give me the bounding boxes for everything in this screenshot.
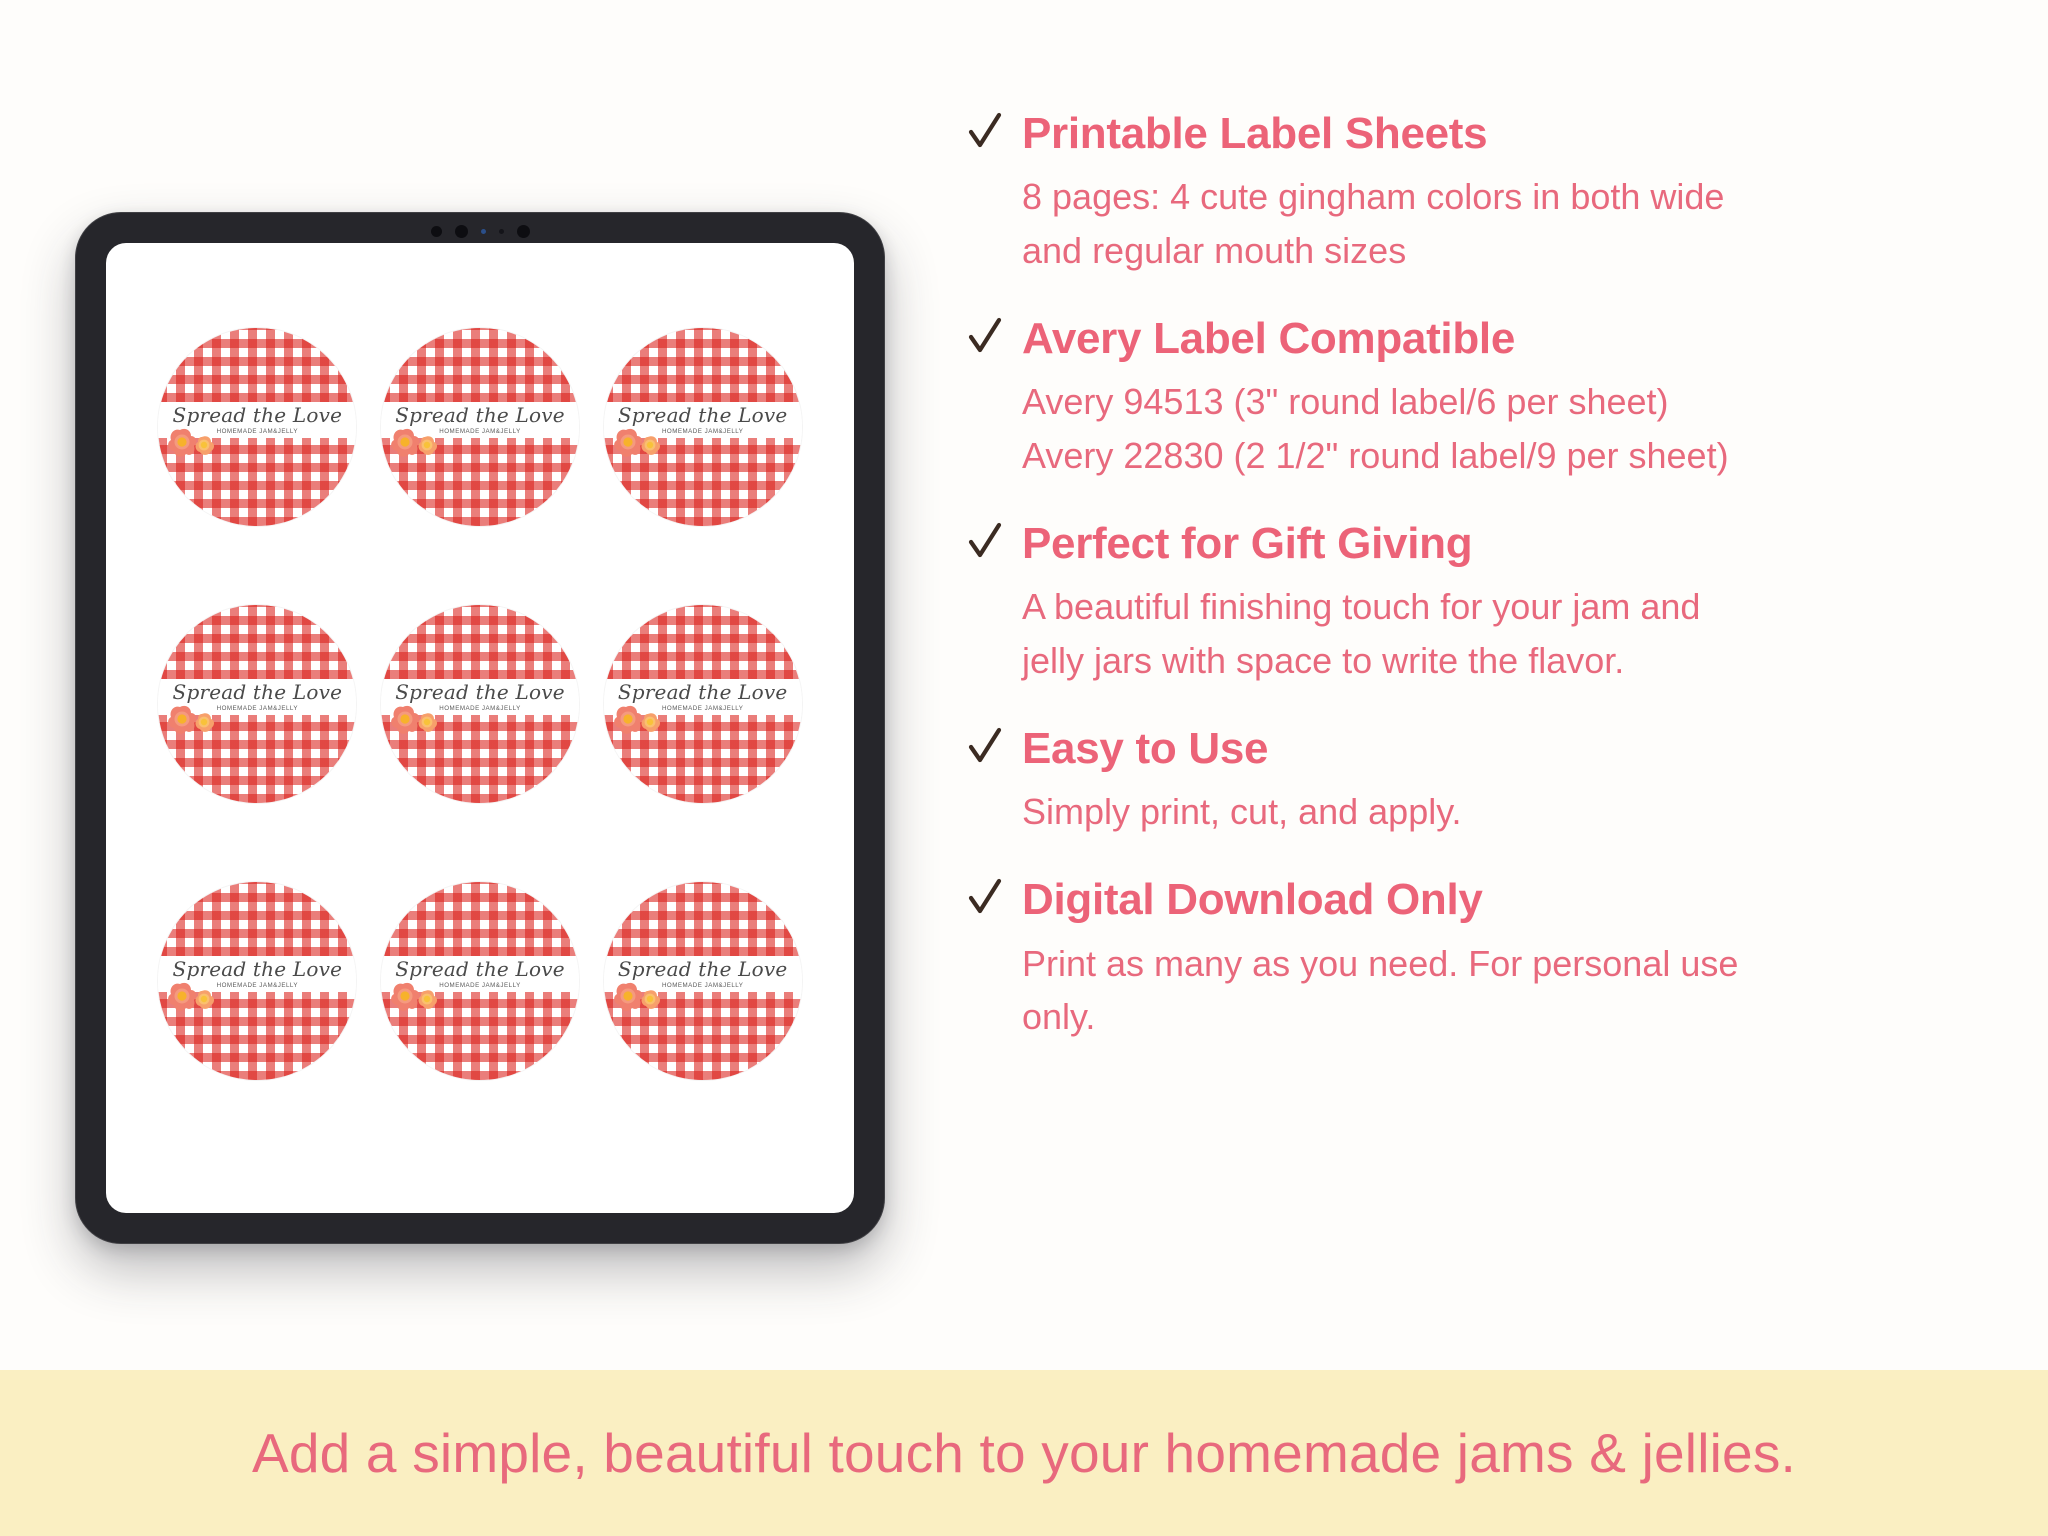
camera-lens-secondary-icon (517, 225, 530, 238)
label-subtitle-text: HOMEMADE JAM&JELLY (439, 982, 520, 989)
camera-strip (395, 225, 565, 237)
label-preview: Spread the Love HOMEMADE JAM&JELLY (381, 605, 579, 803)
check-icon (968, 317, 1002, 357)
label-script-text: Spread the Love (173, 682, 343, 702)
label-text-band: Spread the Love HOMEMADE JAM&JELLY (381, 956, 579, 992)
check-icon (968, 727, 1002, 767)
label-text-band: Spread the Love HOMEMADE JAM&JELLY (381, 679, 579, 715)
label-text-band: Spread the Love HOMEMADE JAM&JELLY (158, 402, 356, 438)
feature-title: Avery Label Compatible (1022, 315, 1515, 363)
feature-description-line: A beautiful finishing touch for your jam… (1022, 580, 1948, 633)
label-script-text: Spread the Love (618, 405, 788, 425)
label-subtitle-text: HOMEMADE JAM&JELLY (662, 428, 743, 435)
feature-title: Perfect for Gift Giving (1022, 520, 1472, 568)
feature-description: Avery 94513 (3" round label/6 per sheet)… (1022, 375, 1948, 482)
feature-description: Print as many as you need. For personal … (1022, 937, 1948, 1044)
label-text-band: Spread the Love HOMEMADE JAM&JELLY (604, 956, 802, 992)
feature-item: Easy to Use Simply print, cut, and apply… (968, 723, 1948, 839)
gingham-pattern-bottom (604, 438, 802, 526)
gingham-pattern-bottom (381, 438, 579, 526)
gingham-pattern-top (381, 882, 579, 956)
label-script-text: Spread the Love (395, 405, 565, 425)
check-icon (968, 112, 1002, 152)
gingham-pattern-top (381, 605, 579, 679)
label-preview: Spread the Love HOMEMADE JAM&JELLY (604, 882, 802, 1080)
feature-heading-row: Easy to Use (968, 723, 1948, 773)
feature-description: A beautiful finishing touch for your jam… (1022, 580, 1948, 687)
label-script-text: Spread the Love (395, 959, 565, 979)
tablet-screen: Spread the Love HOMEMADE JAM&JELLY Sprea… (106, 243, 854, 1213)
main-stage: Spread the Love HOMEMADE JAM&JELLY Sprea… (0, 0, 2048, 1370)
banner-tagline: Add a simple, beautiful touch to your ho… (252, 1421, 1796, 1485)
label-script-text: Spread the Love (618, 959, 788, 979)
feature-description-line: Avery 94513 (3" round label/6 per sheet) (1022, 375, 1948, 428)
label-preview: Spread the Love HOMEMADE JAM&JELLY (158, 882, 356, 1080)
label-text-band: Spread the Love HOMEMADE JAM&JELLY (604, 402, 802, 438)
feature-heading-row: Digital Download Only (968, 874, 1948, 924)
label-text-band: Spread the Love HOMEMADE JAM&JELLY (158, 956, 356, 992)
feature-heading-row: Perfect for Gift Giving (968, 518, 1948, 568)
gingham-pattern-top (604, 882, 802, 956)
label-preview: Spread the Love HOMEMADE JAM&JELLY (158, 605, 356, 803)
feature-description: Simply print, cut, and apply. (1022, 785, 1948, 838)
gingham-pattern-bottom (381, 992, 579, 1080)
feature-description-line: and regular mouth sizes (1022, 224, 1948, 277)
label-preview: Spread the Love HOMEMADE JAM&JELLY (604, 328, 802, 526)
feature-description-line: only. (1022, 990, 1948, 1043)
tablet-mockup: Spread the Love HOMEMADE JAM&JELLY Sprea… (75, 212, 885, 1244)
label-script-text: Spread the Love (618, 682, 788, 702)
gingham-pattern-top (158, 605, 356, 679)
label-subtitle-text: HOMEMADE JAM&JELLY (662, 982, 743, 989)
label-script-text: Spread the Love (173, 405, 343, 425)
label-preview: Spread the Love HOMEMADE JAM&JELLY (158, 328, 356, 526)
label-text-band: Spread the Love HOMEMADE JAM&JELLY (381, 402, 579, 438)
microphone-dot-icon (499, 229, 504, 234)
gingham-pattern-top (158, 882, 356, 956)
feature-description-line: Print as many as you need. For personal … (1022, 937, 1948, 990)
feature-item: Avery Label Compatible Avery 94513 (3" r… (968, 313, 1948, 482)
feature-item: Digital Download Only Print as many as y… (968, 874, 1948, 1043)
feature-description-line: jelly jars with space to write the flavo… (1022, 634, 1948, 687)
check-icon (968, 878, 1002, 918)
label-preview: Spread the Love HOMEMADE JAM&JELLY (604, 605, 802, 803)
feature-item: Perfect for Gift Giving A beautiful fini… (968, 518, 1948, 687)
label-text-band: Spread the Love HOMEMADE JAM&JELLY (158, 679, 356, 715)
gingham-pattern-bottom (158, 438, 356, 526)
label-preview: Spread the Love HOMEMADE JAM&JELLY (381, 328, 579, 526)
feature-description-line: 8 pages: 4 cute gingham colors in both w… (1022, 170, 1948, 223)
label-text-band: Spread the Love HOMEMADE JAM&JELLY (604, 679, 802, 715)
gingham-pattern-bottom (604, 992, 802, 1080)
feature-description: 8 pages: 4 cute gingham colors in both w… (1022, 170, 1948, 277)
label-subtitle-text: HOMEMADE JAM&JELLY (662, 705, 743, 712)
label-subtitle-text: HOMEMADE JAM&JELLY (439, 705, 520, 712)
gingham-pattern-top (604, 328, 802, 402)
sensor-dot-icon (431, 226, 442, 237)
feature-item: Printable Label Sheets 8 pages: 4 cute g… (968, 108, 1948, 277)
label-sheet: Spread the Love HOMEMADE JAM&JELLY Sprea… (106, 243, 854, 1213)
gingham-pattern-top (158, 328, 356, 402)
label-preview: Spread the Love HOMEMADE JAM&JELLY (381, 882, 579, 1080)
gingham-pattern-top (381, 328, 579, 402)
label-script-text: Spread the Love (173, 959, 343, 979)
gingham-pattern-bottom (158, 992, 356, 1080)
feature-title: Easy to Use (1022, 725, 1268, 773)
feature-description-line: Avery 22830 (2 1/2" round label/9 per sh… (1022, 429, 1948, 482)
gingham-pattern-bottom (604, 715, 802, 803)
feature-description-line: Simply print, cut, and apply. (1022, 785, 1948, 838)
label-subtitle-text: HOMEMADE JAM&JELLY (439, 428, 520, 435)
feature-heading-row: Avery Label Compatible (968, 313, 1948, 363)
bottom-banner: Add a simple, beautiful touch to your ho… (0, 1370, 2048, 1536)
feature-heading-row: Printable Label Sheets (968, 108, 1948, 158)
feature-title: Printable Label Sheets (1022, 110, 1487, 158)
label-script-text: Spread the Love (395, 682, 565, 702)
camera-lens-icon (455, 225, 468, 238)
gingham-pattern-bottom (158, 715, 356, 803)
label-subtitle-text: HOMEMADE JAM&JELLY (217, 982, 298, 989)
check-icon (968, 522, 1002, 562)
status-led-icon (481, 229, 486, 234)
label-subtitle-text: HOMEMADE JAM&JELLY (217, 705, 298, 712)
feature-title: Digital Download Only (1022, 876, 1483, 924)
tablet-body: Spread the Love HOMEMADE JAM&JELLY Sprea… (75, 212, 885, 1244)
gingham-pattern-bottom (381, 715, 579, 803)
gingham-pattern-top (604, 605, 802, 679)
label-subtitle-text: HOMEMADE JAM&JELLY (217, 428, 298, 435)
feature-list: Printable Label Sheets 8 pages: 4 cute g… (968, 108, 1948, 1043)
